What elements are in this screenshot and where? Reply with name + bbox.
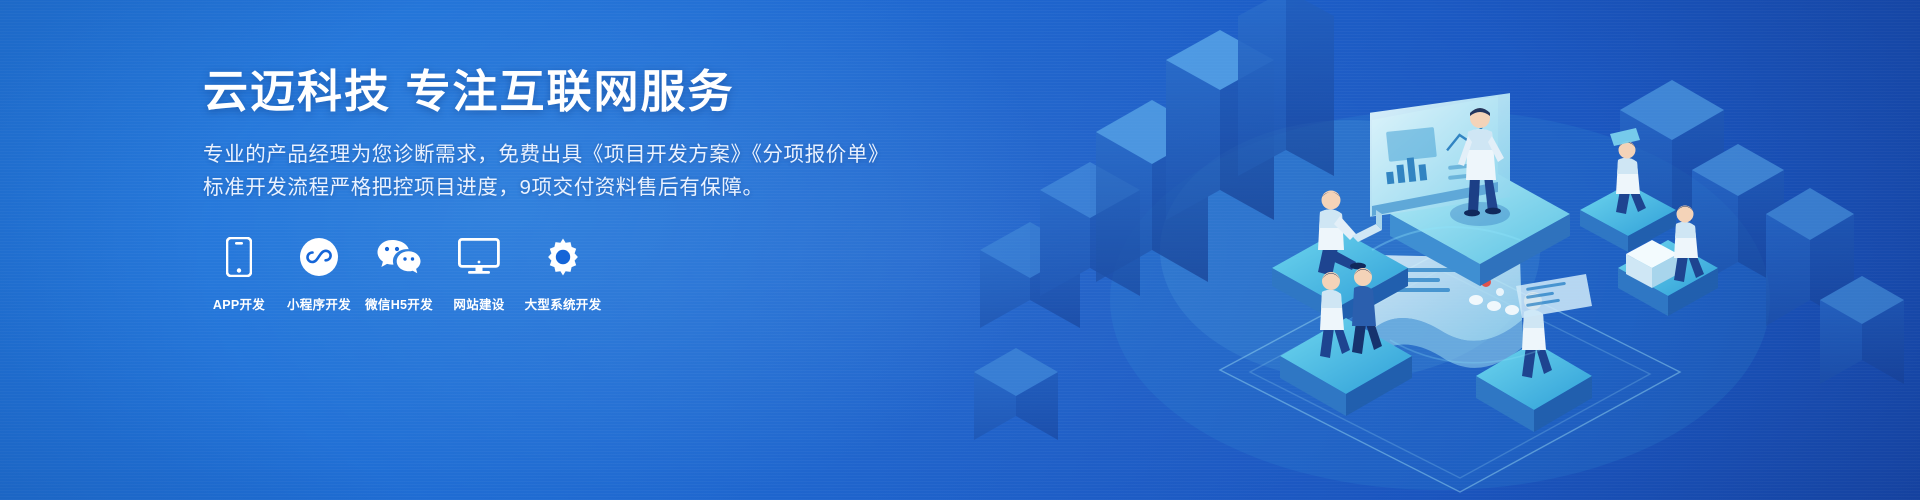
service-item-miniprogram[interactable]: 小程序开发 <box>283 232 355 313</box>
page-title: 云迈科技 专注互联网服务 <box>203 66 903 118</box>
banner-text-block: 云迈科技 专注互联网服务 专业的产品经理为您诊断需求，免费出具《项目开发方案》《… <box>203 66 903 205</box>
banner-subtitle: 专业的产品经理为您诊断需求，免费出具《项目开发方案》《分项报价单》 标准开发流程… <box>203 138 903 204</box>
service-item-app[interactable]: APP开发 <box>203 232 275 313</box>
service-label: 小程序开发 <box>287 294 351 313</box>
service-label: 大型系统开发 <box>525 294 602 313</box>
service-list: APP开发 小程序开发 微信 <box>203 232 599 313</box>
monitor-icon <box>458 232 500 282</box>
illustration-isometric-data-platform <box>920 0 1920 500</box>
subtitle-line-2: 标准开发流程严格把控项目进度，9项交付资料售后有保障。 <box>203 171 903 204</box>
service-label: 网站建设 <box>453 294 504 313</box>
mobile-phone-icon <box>226 232 252 282</box>
wechat-icon <box>376 232 422 282</box>
service-item-large-system[interactable]: 大型系统开发 <box>527 232 599 313</box>
subtitle-line-1: 专业的产品经理为您诊断需求，免费出具《项目开发方案》《分项报价单》 <box>203 138 903 171</box>
service-item-website[interactable]: 网站建设 <box>443 232 515 313</box>
service-item-wechat-h5[interactable]: 微信H5开发 <box>363 232 435 313</box>
mini-program-icon <box>299 232 339 282</box>
service-label: 微信H5开发 <box>365 294 433 313</box>
service-label: APP开发 <box>213 294 265 313</box>
hero-banner: 云迈科技 专注互联网服务 专业的产品经理为您诊断需求，免费出具《项目开发方案》《… <box>0 0 1920 500</box>
gear-icon <box>543 232 583 282</box>
